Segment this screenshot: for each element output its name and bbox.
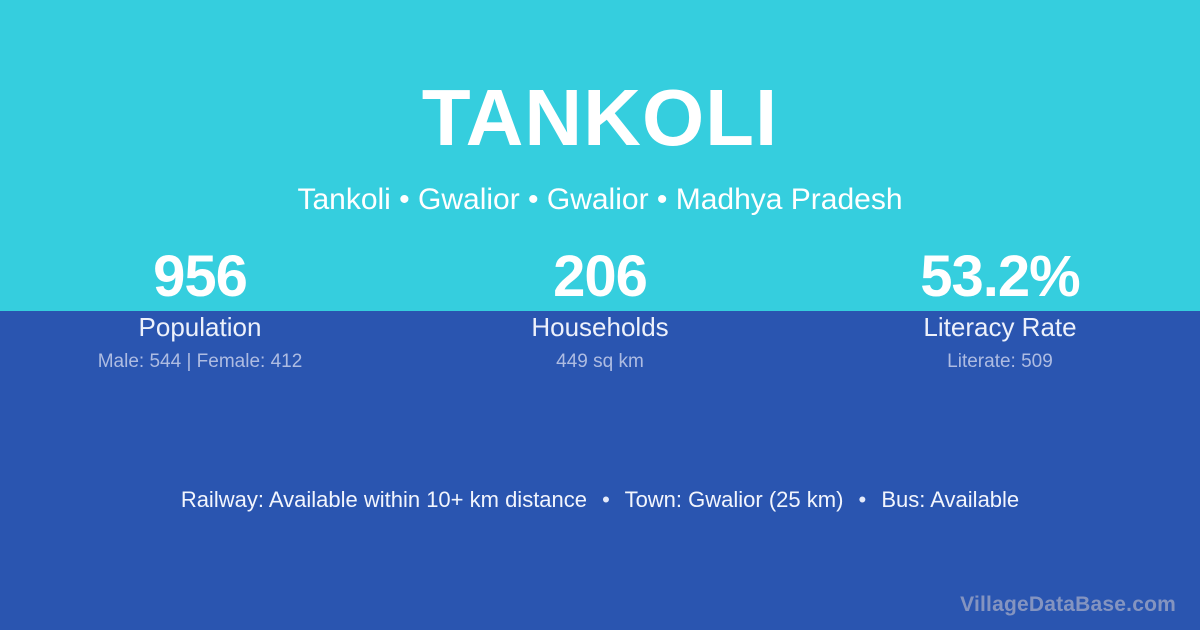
amenity-town: Town: Gwalior (25 km) [625, 487, 844, 512]
stat-sub-population: Male: 544 | Female: 412 [0, 351, 400, 373]
stat-literacy-rate: 53.2% Literacy Rate Literate: 509 [800, 248, 1200, 373]
page-title: TANKOLI [0, 78, 1200, 158]
stat-population: 956 Population Male: 544 | Female: 412 [0, 248, 400, 373]
stat-value-literacy-rate: 53.2% [800, 248, 1200, 306]
stat-households: 206 Households 449 sq km [400, 248, 800, 373]
amenity-separator-2: • [850, 485, 876, 515]
stat-sub-literacy-rate: Literate: 509 [800, 351, 1200, 373]
stat-value-population: 956 [0, 248, 400, 306]
amenity-bus: Bus: Available [881, 487, 1019, 512]
site-brand-watermark: VillageDataBase.com [960, 592, 1176, 618]
stat-label-literacy-rate: Literacy Rate [800, 312, 1200, 342]
amenities-row: Railway: Available within 10+ km distanc… [0, 485, 1200, 515]
amenity-separator-1: • [593, 485, 619, 515]
stat-label-population: Population [0, 312, 400, 342]
village-info-card: TANKOLI Tankoli • Gwalior • Gwalior • Ma… [0, 0, 1200, 630]
stat-sub-households: 449 sq km [400, 351, 800, 373]
stat-value-households: 206 [400, 248, 800, 306]
amenity-railway: Railway: Available within 10+ km distanc… [181, 487, 587, 512]
stat-label-households: Households [400, 312, 800, 342]
breadcrumb: Tankoli • Gwalior • Gwalior • Madhya Pra… [0, 182, 1200, 218]
card-content: TANKOLI Tankoli • Gwalior • Gwalior • Ma… [0, 0, 1200, 630]
stats-row: 956 Population Male: 544 | Female: 412 2… [0, 248, 1200, 373]
